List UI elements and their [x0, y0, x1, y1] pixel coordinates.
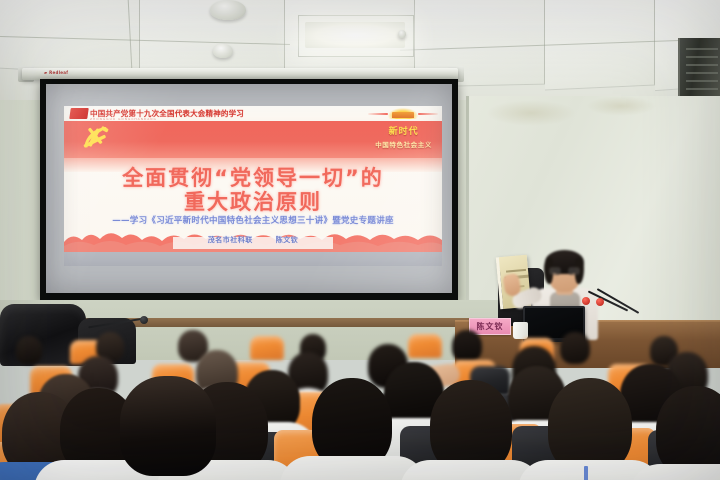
new-era-line2: 中国特色社会主义	[375, 139, 432, 149]
tiananmen-sunrise-icon	[366, 107, 438, 120]
new-era-line1: 新时代	[375, 124, 432, 137]
smoke-detector-icon	[210, 0, 246, 20]
credit-speaker-name: 陈文钦	[276, 235, 299, 245]
air-conditioner-vent	[678, 38, 720, 98]
auditorium-seat	[250, 336, 284, 360]
audience-member	[16, 336, 42, 364]
lanyard	[584, 466, 588, 480]
microphone-head	[140, 316, 148, 324]
slide-title-line2: 重大政治原则	[64, 190, 442, 214]
audience-area	[0, 330, 720, 480]
audience-member	[312, 378, 392, 470]
audience-member	[120, 376, 216, 476]
party-flag-icon	[69, 108, 89, 119]
roller-brand-logo: ▰ Redleaf	[44, 70, 68, 75]
slide-credits: 茂名市社科联 陈文钦	[64, 227, 442, 246]
eyeglasses-icon	[549, 267, 580, 275]
lecture-hall-scene: ▰ Redleaf 中国共产党第十九次全国代表大会精神的学习 ZHONGGUO …	[0, 0, 720, 480]
audience-member	[452, 330, 482, 362]
slide-title-block: 全面贯彻“党领导一切”的 重大政治原则	[64, 166, 442, 214]
ceiling-tile	[545, 0, 655, 90]
slide-title-line1: 全面贯彻“党领导一切”的	[64, 166, 442, 190]
smoke-detector-icon	[398, 30, 406, 38]
new-era-slogan: 新时代 中国特色社会主义	[375, 124, 432, 149]
wall-stain	[586, 96, 656, 116]
slide-subtitle: ——学习《习近平新时代中国特色社会主义思想三十讲》暨党史专题讲座	[64, 214, 442, 226]
projection-screen: 中国共产党第十九次全国代表大会精神的学习 ZHONGGUO GONGCHANDA…	[40, 79, 458, 300]
presentation-slide: 中国共产党第十九次全国代表大会精神的学习 ZHONGGUO GONGCHANDA…	[64, 106, 442, 266]
microphone-head	[582, 297, 590, 305]
hammer-and-sickle-emblem	[80, 124, 114, 154]
audience-member	[656, 386, 720, 478]
fluorescent-light-panel	[305, 22, 405, 48]
audience-member	[560, 332, 590, 364]
audience-member	[548, 378, 632, 474]
audience-member	[430, 380, 512, 474]
wall-stain	[486, 100, 576, 126]
credit-organization: 茂名市社科联	[208, 235, 253, 245]
slide-header-pinyin: ZHONGGUO GONGCHANDANG	[90, 117, 157, 121]
projection-screen-surface: 中国共产党第十九次全国代表大会精神的学习 ZHONGGUO GONGCHANDA…	[46, 84, 452, 293]
smoke-detector-icon	[213, 44, 233, 58]
auditorium-seat	[408, 334, 442, 358]
microphone-head	[596, 298, 604, 306]
slide-ground-band	[64, 252, 442, 266]
